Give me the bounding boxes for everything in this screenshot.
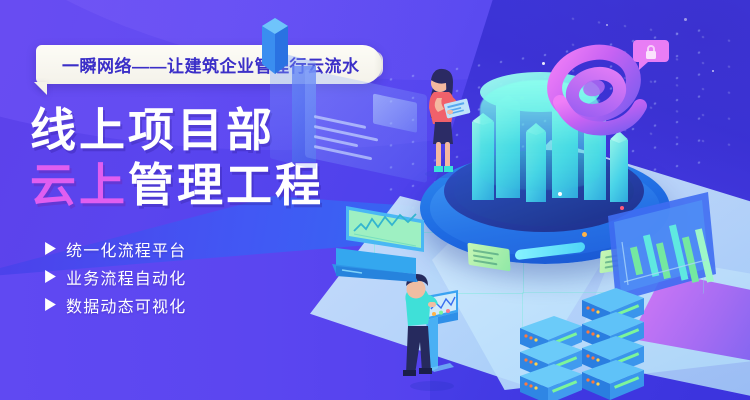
isometric-illustration [320,0,750,400]
list-item-label: 统一化流程平台 [66,237,186,261]
triangle-right-icon [44,298,57,311]
chip-line [473,254,493,259]
server-racks [510,284,690,400]
list-item: 业务流程自动化 [44,264,186,289]
list-item-label: 数据动态可视化 [66,293,186,317]
woman-with-tablet [415,66,471,178]
hub-indicator-dot [582,232,587,237]
chip-line [473,259,497,265]
document-card [305,69,427,183]
feature-bullet-list: 统一化流程平台 业务流程自动化 数据动态可视化 [44,236,186,320]
hub-indicator-dot [558,192,562,196]
crystal-tower-icon [260,18,290,78]
triangle-right-icon [44,242,57,255]
list-item: 统一化流程平台 [44,236,186,261]
headline-accent-text: 云上 [30,159,128,211]
list-item-label: 业务流程自动化 [66,265,186,289]
document-thumbnail [373,93,417,132]
tag-tail [24,82,47,95]
line-chart-laptop [328,200,436,308]
promo-banner: 一瞬网络——让建筑企业管理行云流水 线上项目部 云上管理工程 统一化流程平台 业… [0,0,750,400]
document-text-line [314,145,372,160]
headline-rest-text: 管理工程 [128,159,324,211]
lock-speech-bubble-icon [632,38,670,70]
triangle-right-icon [44,270,57,283]
list-item: 数据动态可视化 [44,292,186,317]
